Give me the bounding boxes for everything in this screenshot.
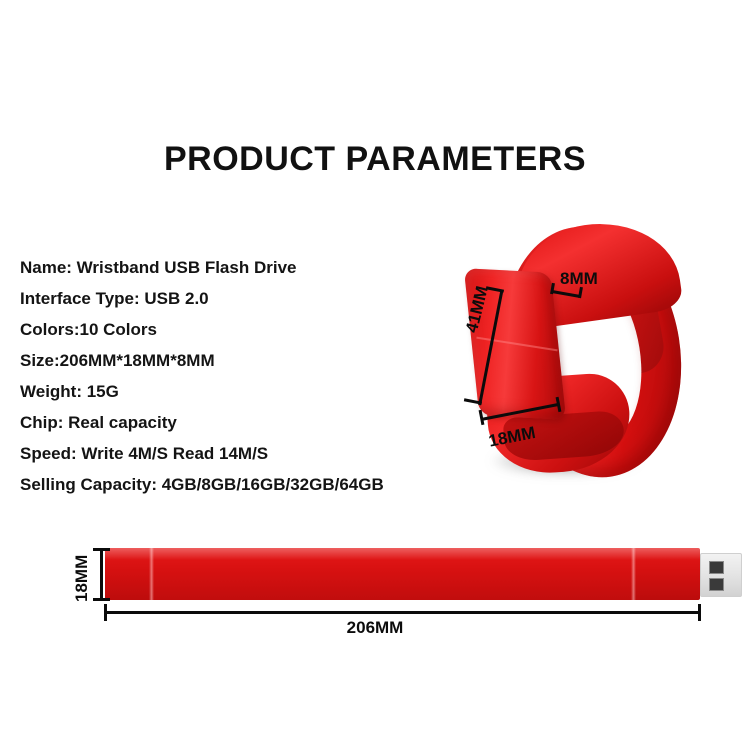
product-parameters-page: PRODUCT PARAMETERS Name: Wristband USB F… (0, 0, 750, 750)
flat-width-dimension-label: 18MM (72, 555, 92, 602)
spec-item-colors: Colors:10 Colors (20, 314, 440, 345)
usb-connector (700, 553, 742, 597)
usb-contact-lower (709, 578, 724, 591)
spec-item-interface-type: Interface Type: USB 2.0 (20, 283, 440, 314)
spec-item-weight: Weight: 15G (20, 376, 440, 407)
flat-width-dimension-line (100, 549, 103, 600)
flat-wristband-image (105, 548, 700, 600)
spec-item-chip: Chip: Real capacity (20, 407, 440, 438)
usb-contact-upper (709, 561, 724, 574)
thickness-dimension-label: 8MM (560, 269, 598, 289)
strap-highlight (105, 548, 700, 560)
spec-item-selling-capacity: Selling Capacity: 4GB/8GB/16GB/32GB/64GB (20, 469, 440, 500)
spec-list: Name: Wristband USB Flash Drive Interfac… (20, 252, 440, 500)
flat-length-dimension-label: 206MM (0, 618, 750, 638)
flat-width-dimension-cap-bottom (93, 598, 110, 601)
page-title: PRODUCT PARAMETERS (0, 139, 750, 179)
flat-length-dimension-line (105, 611, 700, 614)
spec-item-size: Size:206MM*18MM*8MM (20, 345, 440, 376)
spec-item-name: Name: Wristband USB Flash Drive (20, 252, 440, 283)
spec-item-speed: Speed: Write 4M/S Read 14M/S (20, 438, 440, 469)
